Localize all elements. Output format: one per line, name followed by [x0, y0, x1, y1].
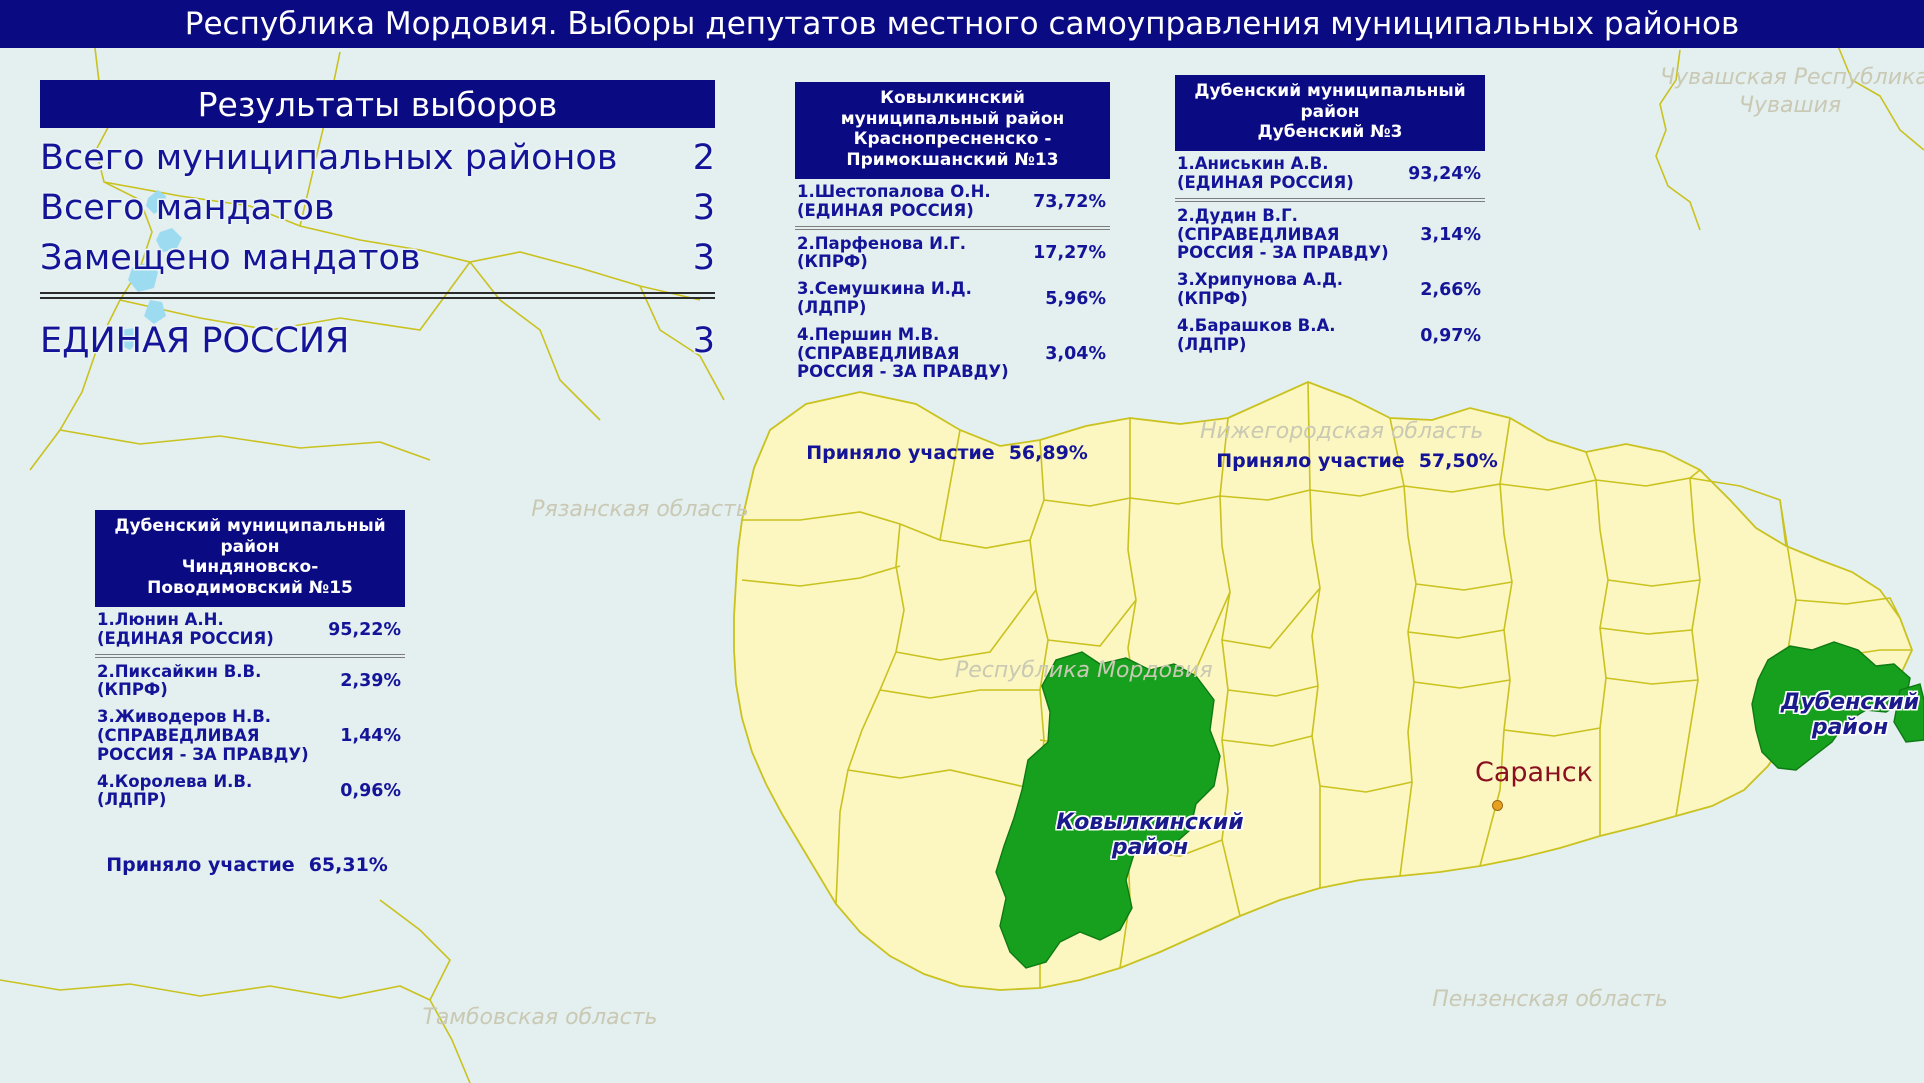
turnout-kovylkinsky-13: Приняло участие56,89%	[793, 420, 1088, 464]
candidate-name: 1.Аниськин А.В. (ЕДИНАЯ РОССИЯ)	[1177, 155, 1408, 193]
turnout-value: 56,89%	[1009, 442, 1088, 464]
turnout-label: Приняло участие	[106, 854, 294, 876]
table-row[interactable]: 1.Аниськин А.В. (ЕДИНАЯ РОССИЯ) 93,24%	[1175, 151, 1485, 197]
candidate-name: 2.Пиксайкин В.В. (КПРФ)	[97, 663, 340, 701]
candidate-percent: 95,22%	[328, 620, 401, 640]
candidate-name: 4.Королева И.В. (ЛДПР)	[97, 773, 340, 811]
page-title: Республика Мордовия. Выборы депутатов ме…	[0, 0, 1924, 48]
candidate-name: 1.Люнин А.Н. (ЕДИНАЯ РОССИЯ)	[97, 611, 328, 649]
summary-value: 3	[693, 238, 715, 278]
summary-row-total-districts: Всего муниципальных районов 2	[40, 138, 715, 178]
capital-marker-dot	[1492, 800, 1503, 811]
candidate-percent: 17,27%	[1033, 243, 1106, 263]
summary-value: 3	[693, 188, 715, 228]
table-row-separator	[1175, 198, 1485, 202]
table-row[interactable]: 2.Парфенова И.Г. (КПРФ) 17,27%	[795, 231, 1110, 277]
table-row[interactable]: 4.Першин М.В. (СПРАВЕДЛИВАЯ РОССИЯ - ЗА …	[795, 322, 1110, 386]
table-row[interactable]: 3.Живодеров Н.В. (СПРАВЕДЛИВАЯ РОССИЯ - …	[95, 704, 405, 768]
table-row-separator	[795, 226, 1110, 230]
table-row[interactable]: 4.Барашков В.А. (ЛДПР) 0,97%	[1175, 313, 1485, 359]
candidate-percent: 1,44%	[340, 726, 401, 746]
page-header: Республика Мордовия. Выборы депутатов ме…	[0, 0, 1924, 48]
table-row-separator	[95, 654, 405, 658]
candidate-percent: 0,96%	[340, 781, 401, 801]
results-table-dubensky-3: Дубенский муниципальный район Дубенский …	[1175, 75, 1485, 358]
candidate-name: 3.Семушкина И.Д. (ЛДПР)	[797, 280, 1045, 318]
results-table-kovylkinsky-13: Ковылкинский муниципальный район Красноп…	[795, 82, 1110, 386]
results-panel-heading: Результаты выборов	[40, 80, 715, 128]
turnout-label: Приняло участие	[806, 442, 994, 464]
candidate-percent: 0,97%	[1420, 326, 1481, 346]
turnout-dubensky-15: Приняло участие65,31%	[93, 832, 388, 876]
table-row[interactable]: 1.Шестопалова О.Н. (ЕДИНАЯ РОССИЯ) 73,72…	[795, 179, 1110, 225]
summary-label: Всего муниципальных районов	[40, 138, 617, 178]
summary-label: Замещено мандатов	[40, 238, 421, 278]
candidate-percent: 3,14%	[1420, 225, 1481, 245]
candidate-percent: 93,24%	[1408, 164, 1481, 184]
table-row[interactable]: 3.Семушкина И.Д. (ЛДПР) 5,96%	[795, 276, 1110, 322]
summary-value: 2	[693, 138, 715, 178]
table-row[interactable]: 4.Королева И.В. (ЛДПР) 0,96%	[95, 769, 405, 815]
party-label: ЕДИНАЯ РОССИЯ	[40, 321, 349, 361]
candidate-percent: 2,39%	[340, 671, 401, 691]
capital-label-saransk: Саранск	[1475, 757, 1593, 788]
turnout-value: 65,31%	[309, 854, 388, 876]
candidate-percent: 3,04%	[1045, 344, 1106, 364]
candidate-percent: 5,96%	[1045, 289, 1106, 309]
table-title: Дубенский муниципальный район Чиндяновск…	[95, 510, 405, 607]
summary-label: Всего мандатов	[40, 188, 335, 228]
turnout-dubensky-3: Приняло участие57,50%	[1203, 428, 1498, 472]
candidate-percent: 2,66%	[1420, 280, 1481, 300]
results-summary-panel: Результаты выборов Всего муниципальных р…	[40, 80, 715, 361]
party-value: 3	[693, 321, 715, 361]
candidate-name: 2.Парфенова И.Г. (КПРФ)	[797, 235, 1033, 273]
results-divider	[40, 292, 715, 299]
table-row[interactable]: 2.Дудин В.Г. (СПРАВЕДЛИВАЯ РОССИЯ - ЗА П…	[1175, 203, 1485, 267]
candidate-name: 1.Шестопалова О.Н. (ЕДИНАЯ РОССИЯ)	[797, 183, 1033, 221]
table-row[interactable]: 3.Хрипунова А.Д. (КПРФ) 2,66%	[1175, 267, 1485, 313]
candidate-name: 4.Барашков В.А. (ЛДПР)	[1177, 317, 1420, 355]
summary-row-total-mandates: Всего мандатов 3	[40, 188, 715, 228]
candidate-name: 3.Хрипунова А.Д. (КПРФ)	[1177, 271, 1420, 309]
candidate-name: 2.Дудин В.Г. (СПРАВЕДЛИВАЯ РОССИЯ - ЗА П…	[1177, 207, 1420, 263]
turnout-label: Приняло участие	[1216, 450, 1404, 472]
table-row[interactable]: 1.Люнин А.Н. (ЕДИНАЯ РОССИЯ) 95,22%	[95, 607, 405, 653]
table-row[interactable]: 2.Пиксайкин В.В. (КПРФ) 2,39%	[95, 659, 405, 705]
table-title: Ковылкинский муниципальный район Красноп…	[795, 82, 1110, 179]
candidate-name: 4.Першин М.В. (СПРАВЕДЛИВАЯ РОССИЯ - ЗА …	[797, 326, 1045, 382]
candidate-percent: 73,72%	[1033, 192, 1106, 212]
summary-row-filled-mandates: Замещено мандатов 3	[40, 238, 715, 278]
table-title: Дубенский муниципальный район Дубенский …	[1175, 75, 1485, 151]
turnout-value: 57,50%	[1419, 450, 1498, 472]
district-label-kovylkinsky[interactable]: Ковылкинский район	[1030, 810, 1270, 861]
district-label-dubensky[interactable]: Дубенский район	[1760, 690, 1924, 741]
candidate-name: 3.Живодеров Н.В. (СПРАВЕДЛИВАЯ РОССИЯ - …	[97, 708, 340, 764]
results-table-dubensky-15: Дубенский муниципальный район Чиндяновск…	[95, 510, 405, 814]
summary-row-party-united-russia: ЕДИНАЯ РОССИЯ 3	[40, 321, 715, 361]
